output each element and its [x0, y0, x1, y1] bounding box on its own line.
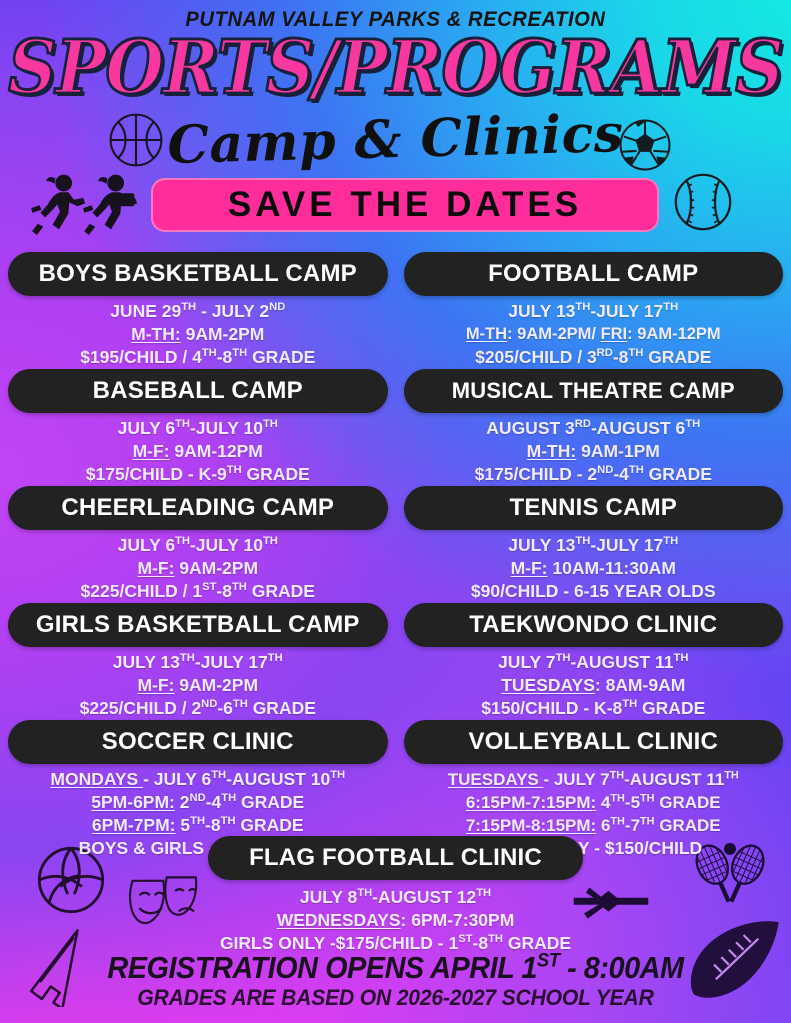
program-name: GIRLS BASKETBALL CAMP [36, 611, 360, 639]
subtitle-camp-clinics: Camp & Clinics [0, 100, 791, 181]
page-title: SPORTS/PROGRAMS [0, 29, 791, 105]
program-row: GIRLS BASKETBALL CAMP JULY 13TH-JULY 17T… [0, 603, 791, 720]
program-details: JULY 13TH-JULY 17TH M-TH: 9AM-2PM/ FRI: … [396, 296, 791, 369]
program-card-boys-basketball-camp[interactable]: BOYS BASKETBALL CAMP JUNE 29TH - JULY 2N… [0, 252, 396, 369]
program-dates: JUNE 29TH - JULY 2ND [2, 300, 394, 323]
program-title-pill[interactable]: BASEBALL CAMP [8, 369, 388, 413]
program-details: JULY 13TH-JULY 17TH M-F: 9AM-2PM $225/CH… [0, 647, 396, 720]
program-times: TUESDAYS: 8AM-9AM [398, 674, 790, 697]
program-title-pill[interactable]: CHEERLEADING CAMP [8, 486, 388, 530]
program-card-football-camp[interactable]: FOOTBALL CAMP JULY 13TH-JULY 17TH M-TH: … [396, 252, 791, 369]
program-price-grade: $90/CHILD - 6-15 YEAR OLDS [398, 580, 790, 603]
program-title-pill[interactable]: TENNIS CAMP [404, 486, 784, 530]
program-card-girls-basketball-camp[interactable]: GIRLS BASKETBALL CAMP JULY 13TH-JULY 17T… [0, 603, 396, 720]
program-dates: JULY 13TH-JULY 17TH [2, 651, 394, 674]
program-times: 6:15PM-7:15PM: 4TH-5TH GRADE [398, 791, 790, 814]
program-times: M-TH: 9AM-2PM/ FRI: 9AM-12PM [398, 323, 790, 346]
program-card-baseball-camp[interactable]: BASEBALL CAMP JULY 6TH-JULY 10TH M-F: 9A… [0, 369, 396, 486]
program-times: M-TH: 9AM-1PM [398, 440, 790, 463]
program-title-pill[interactable]: MUSICAL THEATRE CAMP [404, 369, 784, 413]
program-dates: JULY 6TH-JULY 10TH [2, 417, 394, 440]
program-details: JUNE 29TH - JULY 2ND M-TH: 9AM-2PM $195/… [0, 296, 396, 369]
program-price-grade: $225/CHILD / 2ND-6TH GRADE [2, 697, 394, 720]
program-price-grade: $150/CHILD - K-8TH GRADE [398, 697, 790, 720]
program-dates: JULY 13TH-JULY 17TH [398, 534, 790, 557]
program-details: JULY 7TH-AUGUST 11TH TUESDAYS: 8AM-9AM $… [396, 647, 791, 720]
program-times-secondary: 7:15PM-8:15PM: 6TH-7TH GRADE [398, 814, 790, 837]
program-details: AUGUST 3RD-AUGUST 6TH M-TH: 9AM-1PM $175… [396, 413, 791, 486]
program-name: TENNIS CAMP [509, 494, 677, 522]
program-times: M-F: 9AM-2PM [2, 674, 394, 697]
program-name: FLAG FOOTBALL CLINIC [249, 844, 542, 872]
program-name: MUSICAL THEATRE CAMP [452, 378, 735, 404]
program-times: M-F: 9AM-12PM [2, 440, 394, 463]
program-dates: JULY 6TH-JULY 10TH [2, 534, 394, 557]
program-name: VOLLEYBALL CLINIC [468, 728, 718, 756]
program-price-grade: $195/CHILD / 4TH-8TH GRADE [2, 346, 394, 369]
program-times: M-TH: 9AM-2PM [2, 323, 394, 346]
program-dates: AUGUST 3RD-AUGUST 6TH [398, 417, 790, 440]
program-times: M-F: 9AM-2PM [2, 557, 394, 580]
program-price-grade: $225/CHILD / 1ST-8TH GRADE [2, 580, 394, 603]
program-dates: JULY 7TH-AUGUST 11TH [398, 651, 790, 674]
program-name: BOYS BASKETBALL CAMP [39, 260, 357, 288]
program-times-secondary: 6PM-7PM: 5TH-8TH GRADE [2, 814, 394, 837]
program-dates: JULY 13TH-JULY 17TH [398, 300, 790, 323]
program-row: BASEBALL CAMP JULY 6TH-JULY 10TH M-F: 9A… [0, 369, 791, 486]
program-times: WEDNESDAYS: 6PM-7:30PM [2, 909, 789, 932]
program-title-pill[interactable]: BOYS BASKETBALL CAMP [8, 252, 388, 296]
program-dates: JULY 8TH-AUGUST 12TH [2, 886, 789, 909]
program-title-pill[interactable]: FLAG FOOTBALL CLINIC [208, 836, 583, 880]
registration-banner: REGISTRATION OPENS APRIL 1ST - 8:00AM [28, 950, 764, 986]
program-details: JULY 6TH-JULY 10TH M-F: 9AM-2PM $225/CHI… [0, 530, 396, 603]
program-details: JULY 6TH-JULY 10TH M-F: 9AM-12PM $175/CH… [0, 413, 396, 486]
program-details: JULY 8TH-AUGUST 12TH WEDNESDAYS: 6PM-7:3… [0, 882, 791, 955]
program-card-musical-theatre-camp[interactable]: MUSICAL THEATRE CAMP AUGUST 3RD-AUGUST 6… [396, 369, 791, 486]
save-the-dates-label: SAVE THE DATES [228, 185, 582, 225]
program-title-pill[interactable]: GIRLS BASKETBALL CAMP [8, 603, 388, 647]
program-price-grade: $205/CHILD / 3RD-8TH GRADE [398, 346, 790, 369]
runners-icon [30, 170, 142, 248]
program-name: FOOTBALL CAMP [488, 260, 698, 288]
program-price-grade: $175/CHILD - 2ND-4TH GRADE [398, 463, 790, 486]
program-row: CHEERLEADING CAMP JULY 6TH-JULY 10TH M-F… [0, 486, 791, 603]
program-times: 5PM-6PM: 2ND-4TH GRADE [2, 791, 394, 814]
program-name: SOCCER CLINIC [102, 728, 294, 756]
flyer-canvas: PUTNAM VALLEY PARKS & RECREATION SPORTS/… [0, 0, 791, 1023]
program-card-tennis-camp[interactable]: TENNIS CAMP JULY 13TH-JULY 17TH M-F: 10A… [396, 486, 791, 603]
program-title-pill[interactable]: FOOTBALL CAMP [404, 252, 784, 296]
program-dates: MONDAYS - JULY 6TH-AUGUST 10TH [2, 768, 394, 791]
program-name: BASEBALL CAMP [93, 377, 303, 405]
program-name: CHEERLEADING CAMP [61, 494, 334, 522]
save-the-dates-banner: SAVE THE DATES [151, 178, 659, 232]
baseball-icon [673, 172, 733, 232]
program-price-grade: $175/CHILD - K-9TH GRADE [2, 463, 394, 486]
program-details: JULY 13TH-JULY 17TH M-F: 10AM-11:30AM $9… [396, 530, 791, 603]
program-title-pill[interactable]: SOCCER CLINIC [8, 720, 388, 764]
grades-note: GRADES ARE BASED ON 2026-2027 SCHOOL YEA… [16, 985, 775, 1011]
program-title-pill[interactable]: VOLLEYBALL CLINIC [404, 720, 784, 764]
program-row: BOYS BASKETBALL CAMP JUNE 29TH - JULY 2N… [0, 252, 791, 369]
program-name: TAEKWONDO CLINIC [469, 611, 717, 639]
program-times: M-F: 10AM-11:30AM [398, 557, 790, 580]
program-title-pill[interactable]: TAEKWONDO CLINIC [404, 603, 784, 647]
program-grid: BOYS BASKETBALL CAMP JUNE 29TH - JULY 2N… [0, 252, 791, 860]
program-card-taekwondo-clinic[interactable]: TAEKWONDO CLINIC JULY 7TH-AUGUST 11TH TU… [396, 603, 791, 720]
program-dates: TUESDAYS - JULY 7TH-AUGUST 11TH [398, 768, 790, 791]
program-card-flag-football-clinic[interactable]: FLAG FOOTBALL CLINIC JULY 8TH-AUGUST 12T… [0, 836, 791, 955]
program-card-cheerleading-camp[interactable]: CHEERLEADING CAMP JULY 6TH-JULY 10TH M-F… [0, 486, 396, 603]
